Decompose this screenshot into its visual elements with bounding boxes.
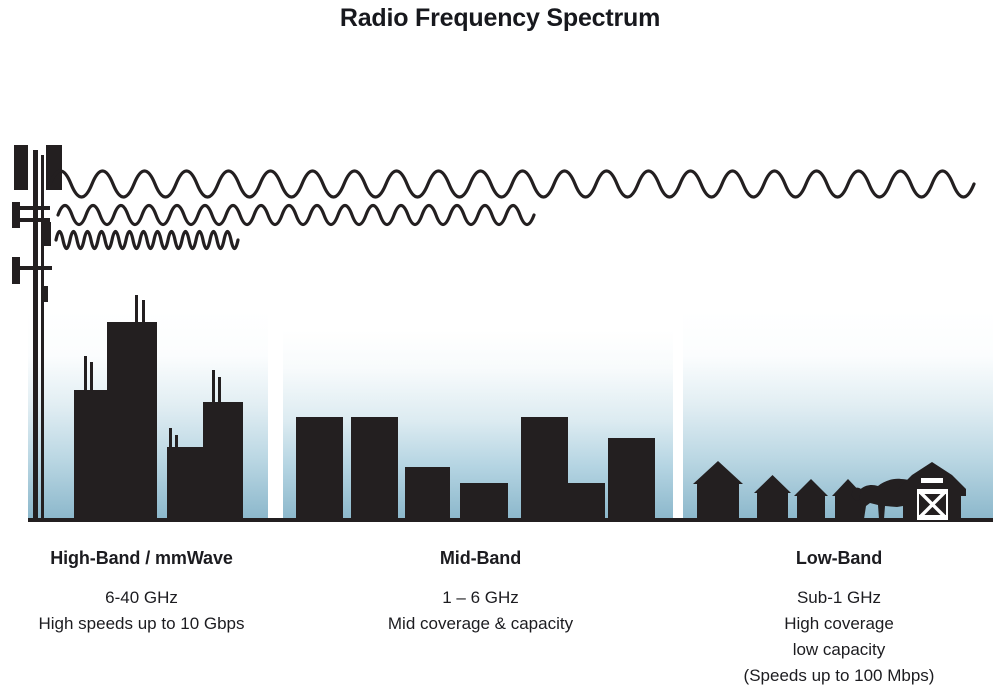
skyscraper-icon	[107, 322, 157, 520]
building-icon	[460, 483, 508, 520]
building-icon	[405, 467, 450, 520]
radio-waves	[50, 171, 974, 249]
building-icon	[608, 438, 655, 520]
band-frequency-mid-band: 1 – 6 GHz	[283, 585, 678, 611]
band-frequency-high-band: 6-40 GHz	[0, 585, 283, 611]
building-icon	[351, 417, 398, 520]
band-capacity-low-band: low capacity	[678, 637, 1000, 663]
band-detail-high-band: 6-40 GHz High speeds up to 10 Gbps	[0, 585, 283, 637]
building-icon	[296, 417, 343, 520]
band-title-mid-band: Mid-Band	[283, 548, 678, 569]
skyscraper-icon	[203, 402, 243, 520]
band-frequency-low-band: Sub-1 GHz	[678, 585, 1000, 611]
band-coverage-low-band: High coverage	[678, 611, 1000, 637]
mid-frequency-wave	[58, 206, 534, 225]
band-caption-low-band: Low-Band Sub-1 GHz High coverage low cap…	[678, 548, 1000, 689]
high-frequency-wave	[56, 232, 238, 249]
band-title-high-band: High-Band / mmWave	[0, 548, 283, 569]
building-icon	[568, 483, 605, 520]
band-detail-low-band: Sub-1 GHz High coverage low capacity (Sp…	[678, 585, 1000, 689]
band-caption-high-band: High-Band / mmWave 6-40 GHz High speeds …	[0, 548, 283, 637]
band-caption-mid-band: Mid-Band 1 – 6 GHz Mid coverage & capaci…	[283, 548, 678, 637]
building-icon	[521, 417, 568, 520]
skyscraper-icon	[167, 447, 205, 520]
band-speed-high-band: High speeds up to 10 Gbps	[0, 611, 283, 637]
band-speed-low-band: (Speeds up to 100 Mbps)	[678, 663, 1000, 689]
low-frequency-wave	[50, 171, 974, 197]
band-title-low-band: Low-Band	[678, 548, 1000, 569]
band-detail-mid-band: 1 – 6 GHz Mid coverage & capacity	[283, 585, 678, 637]
band-speed-mid-band: Mid coverage & capacity	[283, 611, 678, 637]
